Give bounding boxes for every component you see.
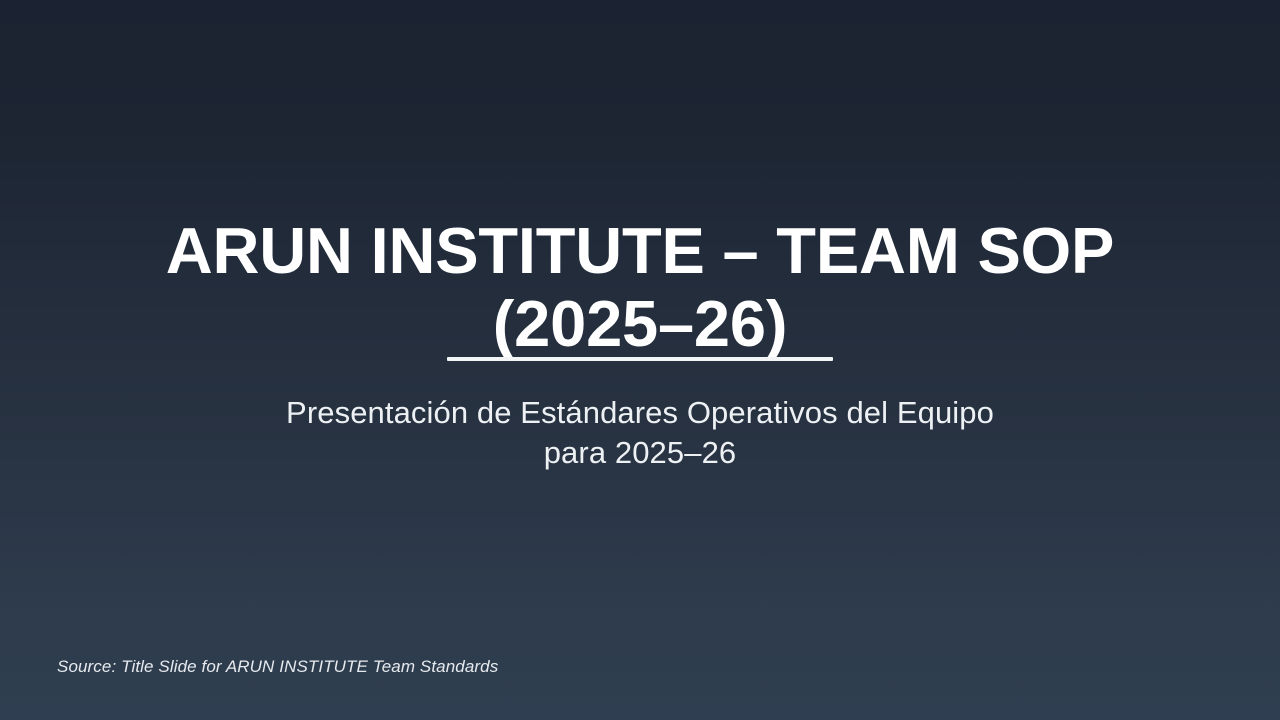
source-note: Source: Title Slide for ARUN INSTITUTE T… [57,657,498,677]
title-slide: ARUN INSTITUTE – TEAM SOP (2025–26) Pres… [0,0,1280,720]
subtitle-line-2: para 2025–26 [140,433,1140,473]
title-block: ARUN INSTITUTE – TEAM SOP (2025–26) [0,214,1280,361]
subtitle-line-1: Presentación de Estándares Operativos de… [140,393,1140,433]
page-title: ARUN INSTITUTE – TEAM SOP (2025–26) [110,214,1170,361]
slide-subtitle: Presentación de Estándares Operativos de… [140,393,1140,473]
subtitle-block: Presentación de Estándares Operativos de… [0,393,1280,473]
